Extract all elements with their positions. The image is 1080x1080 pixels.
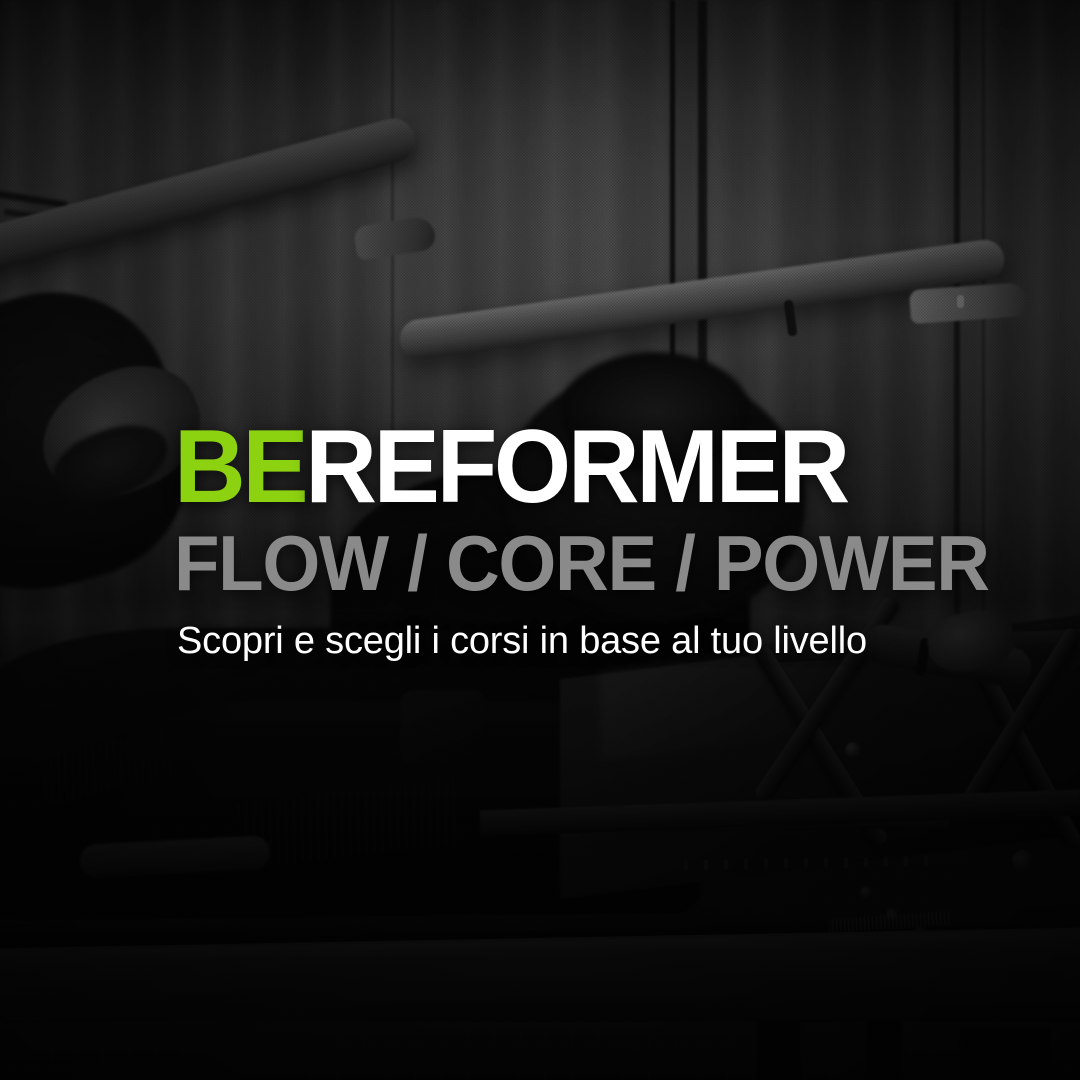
headline-accent-word: BE	[174, 409, 305, 525]
promo-banner: BEREFORMER FLOW / CORE / POWER Scopri e …	[0, 0, 1080, 1080]
brand-tagline: Scopri e scegli i corsi in base al tuo l…	[177, 620, 1034, 663]
brand-headline: BEREFORMER	[174, 421, 995, 515]
headline-main-word: REFORMER	[305, 409, 847, 525]
headline-block: BEREFORMER FLOW / CORE / POWER Scopri e …	[174, 421, 1034, 663]
brand-subline: FLOW / CORE / POWER	[174, 527, 995, 600]
